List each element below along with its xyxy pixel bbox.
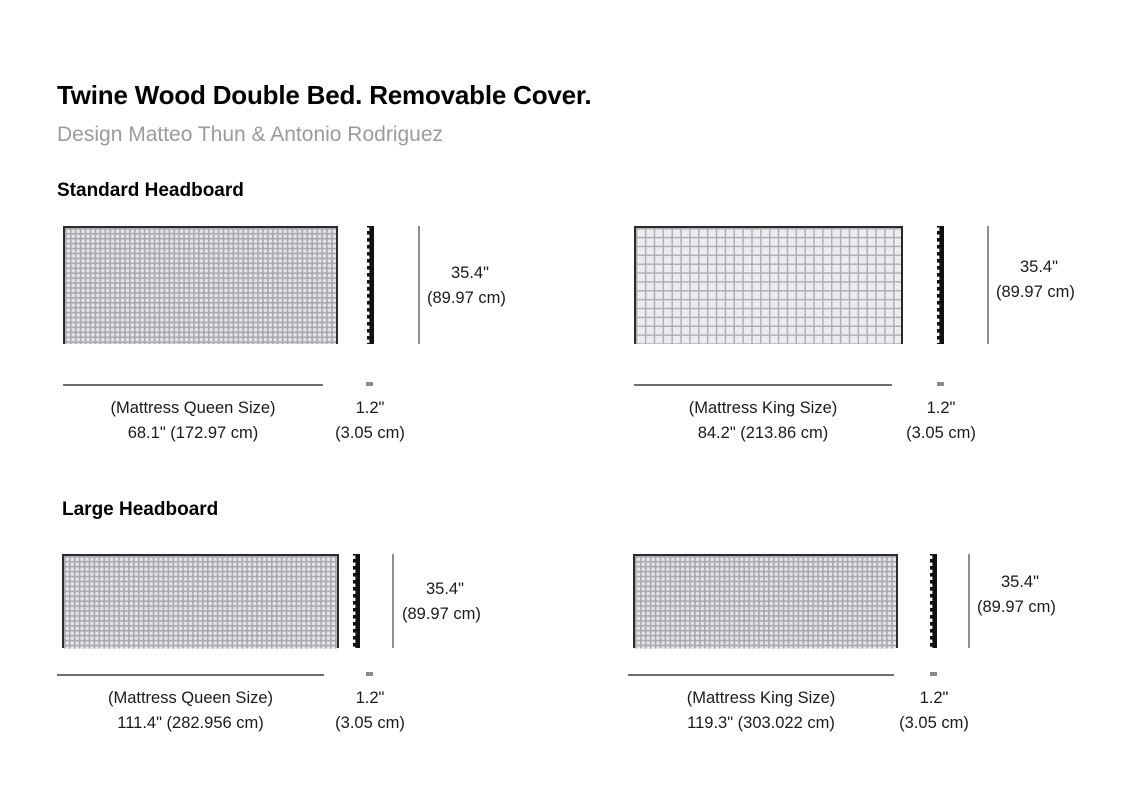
width-dimension-rule (634, 384, 892, 386)
height-callout: 35.4" (89.97 cm) (402, 577, 481, 627)
width-caption-size: (Mattress King Size) (628, 686, 894, 711)
width-caption-size: (Mattress Queen Size) (63, 396, 323, 421)
mesh-texture (65, 228, 336, 344)
depth-value-cm: (3.05 cm) (891, 421, 991, 446)
page-subtitle: Design Matteo Thun & Antonio Rodriguez (57, 123, 443, 147)
width-caption-size: (Mattress King Size) (634, 396, 892, 421)
height-value-cm: (89.97 cm) (977, 595, 1056, 620)
mesh-texture (635, 556, 896, 649)
width-caption-value: 119.3" (303.022 cm) (628, 711, 894, 736)
height-dimension-line (418, 226, 420, 344)
width-caption-value: 68.1" (172.97 cm) (63, 421, 323, 446)
width-caption-value: 84.2" (213.86 cm) (634, 421, 892, 446)
profile-notch-texture (930, 554, 937, 648)
height-dimension-line (968, 554, 970, 648)
headboard-panel-front-view (634, 226, 903, 344)
height-callout: 35.4" (89.97 cm) (427, 261, 506, 311)
depth-dimension-tick (366, 672, 373, 676)
headboard-panel-front-view (62, 554, 339, 648)
width-caption: (Mattress Queen Size) 111.4" (282.956 cm… (57, 686, 324, 736)
width-caption-value: 111.4" (282.956 cm) (57, 711, 324, 736)
width-caption: (Mattress Queen Size) 68.1" (172.97 cm) (63, 396, 323, 446)
height-value-inches: 35.4" (402, 577, 481, 602)
width-caption-size: (Mattress Queen Size) (57, 686, 324, 711)
height-value-cm: (89.97 cm) (427, 286, 506, 311)
depth-caption: 1.2" (3.05 cm) (891, 396, 991, 446)
height-callout: 35.4" (89.97 cm) (996, 255, 1075, 305)
depth-value-inches: 1.2" (891, 396, 991, 421)
width-caption: (Mattress King Size) 84.2" (213.86 cm) (634, 396, 892, 446)
profile-notch-texture (353, 554, 360, 648)
width-dimension-rule (63, 384, 323, 386)
depth-value-cm: (3.05 cm) (884, 711, 984, 736)
height-value-inches: 35.4" (996, 255, 1075, 280)
height-dimension-line (392, 554, 394, 648)
depth-caption: 1.2" (3.05 cm) (884, 686, 984, 736)
height-value-inches: 35.4" (427, 261, 506, 286)
headboard-panel-side-profile (353, 554, 360, 648)
depth-value-inches: 1.2" (320, 686, 420, 711)
headboard-panel-front-view (63, 226, 338, 344)
profile-notch-texture (367, 226, 374, 344)
section-heading-large-headboard: Large Headboard (62, 499, 218, 521)
profile-notch-texture (937, 226, 944, 344)
depth-dimension-tick (930, 672, 937, 676)
width-caption: (Mattress King Size) 119.3" (303.022 cm) (628, 686, 894, 736)
depth-caption: 1.2" (3.05 cm) (320, 686, 420, 736)
headboard-panel-side-profile (930, 554, 937, 648)
depth-caption: 1.2" (3.05 cm) (320, 396, 420, 446)
section-heading-standard-headboard: Standard Headboard (57, 180, 244, 202)
width-dimension-rule (628, 674, 894, 676)
mesh-texture (64, 556, 337, 649)
depth-value-inches: 1.2" (320, 396, 420, 421)
headboard-panel-side-profile (367, 226, 374, 344)
depth-value-inches: 1.2" (884, 686, 984, 711)
depth-dimension-tick (366, 382, 373, 386)
width-dimension-rule (57, 674, 324, 676)
spec-sheet: Twine Wood Double Bed. Removable Cover. … (0, 0, 1136, 800)
depth-value-cm: (3.05 cm) (320, 711, 420, 736)
depth-dimension-tick (937, 382, 944, 386)
page-title: Twine Wood Double Bed. Removable Cover. (57, 80, 591, 111)
depth-value-cm: (3.05 cm) (320, 421, 420, 446)
height-callout: 35.4" (89.97 cm) (977, 570, 1056, 620)
headboard-panel-side-profile (937, 226, 944, 344)
headboard-panel-front-view (633, 554, 898, 648)
height-dimension-line (987, 226, 989, 344)
height-value-cm: (89.97 cm) (996, 280, 1075, 305)
mesh-texture (636, 228, 901, 344)
height-value-inches: 35.4" (977, 570, 1056, 595)
height-value-cm: (89.97 cm) (402, 602, 481, 627)
